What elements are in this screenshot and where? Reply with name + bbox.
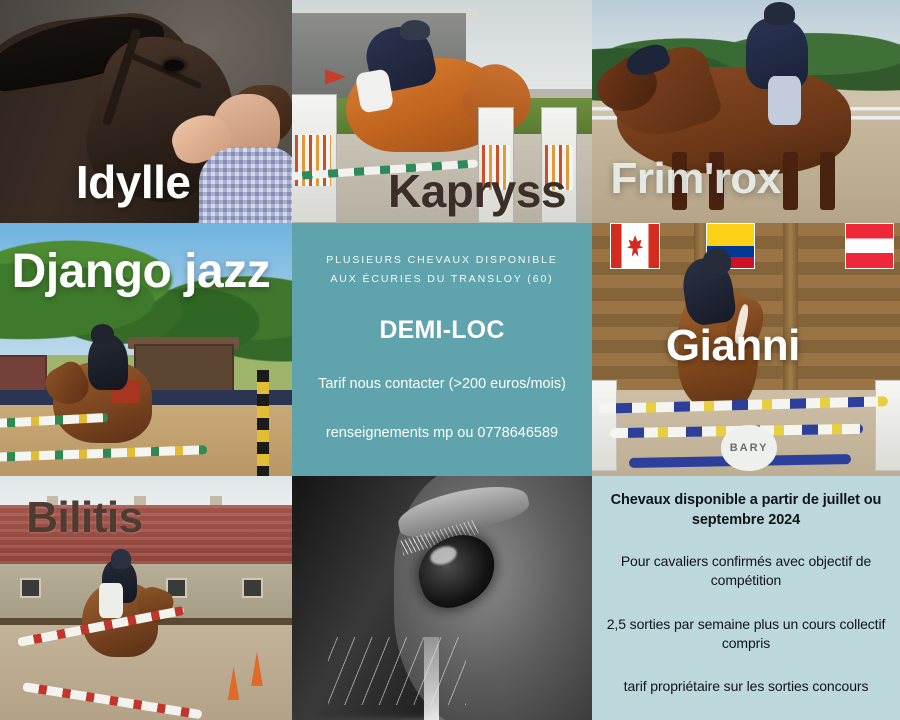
info-price-text: Tarif nous contacter (>200 euros/mois) <box>318 373 566 396</box>
photo-label-frimrox: Frim'rox <box>610 157 780 201</box>
photo-card-horse-eye[interactable] <box>292 476 592 720</box>
info-panel: PLUSIEURS CHEVAUX DISPONIBLE AUX ÉCURIES… <box>292 223 592 476</box>
details-heading: Chevaux disponible a partir de juillet o… <box>598 490 894 530</box>
girl-shirt-shape <box>199 147 292 223</box>
info-eyebrow-text: PLUSIEURS CHEVAUX DISPONIBLE AUX ÉCURIES… <box>318 251 566 290</box>
rider-breeches-shape <box>99 583 122 617</box>
flag-row <box>592 223 900 269</box>
photo-card-frimrox[interactable]: Frim'rox <box>592 0 900 223</box>
jump-standard <box>257 370 269 476</box>
photo-card-bilitis[interactable]: Bilitis <box>0 476 292 720</box>
rider-helmet-shape <box>91 324 114 344</box>
rider-helmet-shape <box>111 549 131 569</box>
details-line-outings: 2,5 sorties par semaine plus un cours co… <box>598 615 894 654</box>
details-line-riders: Pour cavaliers confirmés avec objectif d… <box>598 552 894 591</box>
jump-wing-left <box>592 380 617 471</box>
photo-label-django-jazz: Django jazz <box>12 248 271 296</box>
rider-breeches-shape <box>355 69 394 114</box>
rider-helmet-shape <box>764 2 795 24</box>
barn-window <box>20 578 40 598</box>
whiskers-shape <box>328 637 466 705</box>
jump-wing-right <box>875 380 900 471</box>
photo-label-bilitis: Bilitis <box>26 496 142 540</box>
photo-label-gianni: Gianni <box>666 324 800 368</box>
photo-card-idylle[interactable]: Idylle <box>0 0 292 223</box>
info-contact-text: renseignements mp ou 0778646589 <box>326 422 558 445</box>
photo-collage: Idylle Kapryss <box>0 0 900 720</box>
barn-window <box>242 578 262 598</box>
photo-card-django-jazz[interactable]: Django jazz <box>0 223 292 476</box>
rider-breeches-shape <box>768 76 802 125</box>
details-panel: Chevaux disponible a partir de juillet o… <box>592 476 900 720</box>
photo-card-gianni[interactable]: BARY Gianni <box>592 223 900 476</box>
photo-horse-eye-image <box>292 476 592 720</box>
horse-leg <box>820 152 835 210</box>
horse-leg <box>783 152 798 210</box>
photo-label-idylle: Idylle <box>76 159 191 205</box>
photo-label-kapryss: Kapryss <box>388 168 566 214</box>
rider-helmet-shape <box>703 248 731 273</box>
info-headline: DEMI-LOC <box>379 316 504 345</box>
rider-helmet-shape <box>400 20 430 40</box>
austria-flag-icon <box>845 223 894 269</box>
photo-card-kapryss[interactable]: Kapryss <box>292 0 592 223</box>
arena-logo-bary: BARY <box>721 425 776 471</box>
jump-wing-left <box>292 94 337 223</box>
details-line-tariff: tarif propriétaire sur les sorties conco… <box>624 677 869 696</box>
